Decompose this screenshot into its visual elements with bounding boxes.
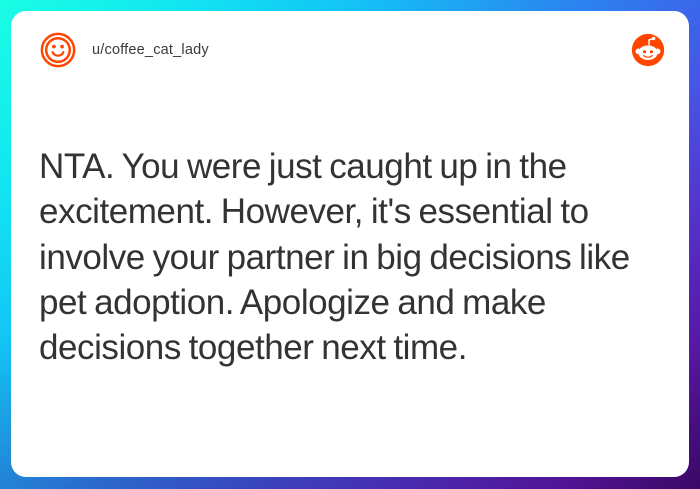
brand-logo[interactable] <box>631 33 665 67</box>
avatar[interactable] <box>39 31 77 69</box>
post-header: u/coffee_cat_lady <box>11 11 689 89</box>
reddit-snoo-icon <box>631 33 665 67</box>
post-body: NTA. You were just caught up in the exci… <box>11 89 689 477</box>
post-text: NTA. You were just caught up in the exci… <box>39 144 667 371</box>
reddit-post-card: u/coffee_cat_lady <box>11 11 689 477</box>
smiley-face-icon <box>39 31 77 69</box>
gradient-background: u/coffee_cat_lady <box>0 0 700 489</box>
username-label: u/coffee_cat_lady <box>92 42 209 58</box>
